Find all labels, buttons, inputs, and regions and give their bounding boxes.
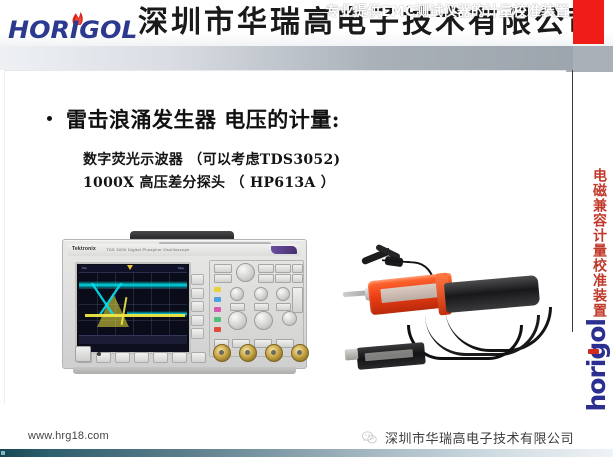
wechat-icon: [362, 431, 377, 444]
scope-softkey[interactable]: [191, 328, 204, 339]
scope-brand-label: Tektronix: [72, 246, 96, 252]
footer-gradient-bar: [0, 449, 613, 457]
scope-display-button[interactable]: [292, 287, 303, 313]
footer-bar-accent-tick: [1, 451, 5, 455]
footer-company-name: 深圳市华瑞高电子技术有限公司: [385, 428, 574, 447]
scope-vertical-scale-knob[interactable]: [230, 287, 244, 301]
probe-bnc-adapter-box: [356, 342, 426, 370]
scope-bottom-key[interactable]: [134, 352, 149, 363]
scope-bottom-key[interactable]: [172, 352, 187, 363]
probe-adapter-label: [365, 349, 414, 361]
scope-softkey[interactable]: [191, 288, 204, 299]
scope-screen-left-label: Tek: [82, 266, 87, 270]
brand-logo[interactable]: HORIGOL: [8, 10, 136, 44]
scope-control-button[interactable]: [254, 303, 269, 311]
scope-control-button[interactable]: [275, 264, 291, 273]
scope-bnc-ch3[interactable]: [265, 344, 283, 362]
scope-channel1-indicator: [214, 287, 221, 292]
scope-control-button[interactable]: [258, 274, 274, 283]
probe-spec-label: [380, 283, 443, 303]
scope-display-statusbar: [79, 345, 187, 352]
scope-trigger-marker-icon: [127, 265, 133, 270]
scope-power-button[interactable]: [75, 346, 91, 362]
scope-control-button[interactable]: [214, 274, 232, 283]
scope-horizontal-position-knob[interactable]: [254, 311, 273, 330]
scope-control-button[interactable]: [276, 303, 291, 311]
scope-control-button[interactable]: [214, 264, 232, 273]
scope-display-topbar: Tek Stop: [79, 265, 187, 273]
scope-control-button[interactable]: [258, 264, 274, 273]
scope-softkey[interactable]: [191, 315, 204, 326]
scope-channel2-indicator: [214, 297, 221, 302]
right-band-top-rule: [566, 70, 613, 72]
scope-channel3-indicator: [214, 307, 221, 312]
scope-vertical-position-knob[interactable]: [228, 311, 247, 330]
bullet-heading: 雷击浪涌发生器 电压的计量:: [47, 107, 340, 133]
scope-control-button[interactable]: [230, 303, 245, 311]
content-panel: 雷击浪涌发生器 电压的计量: 数字荧光示波器 （可以考虑TDS3052) 100…: [4, 70, 567, 404]
brand-logo-text: HORIGOL: [8, 18, 137, 42]
scope-trigger-level-knob[interactable]: [276, 287, 290, 301]
scope-screen-right-label: Stop: [178, 266, 184, 270]
scope-trace-yellow-baseline: [85, 314, 185, 317]
spec-line-oscilloscope: 数字荧光示波器 （可以考虑TDS3052): [83, 151, 340, 169]
scope-brand-strip: Tektronix TDS 3000 Digital Phosphor Osci…: [68, 244, 300, 256]
bullet-dot-icon: [47, 116, 52, 121]
scope-control-button[interactable]: [292, 264, 303, 273]
scope-softkey[interactable]: [191, 274, 204, 285]
scope-horizontal-scale-knob[interactable]: [254, 287, 268, 301]
scope-trigger-knob[interactable]: [282, 311, 297, 326]
page-footer: www.hrg18.com 深圳市华瑞高电子技术有限公司: [0, 412, 613, 460]
spec-line-probe: 1000X 高压差分探头 （ HP613A ）: [83, 174, 335, 192]
right-band-logo-accent-dot: [588, 349, 599, 354]
subtitle-bar: [0, 46, 613, 70]
scope-model-label: TDS 3000 Digital Phosphor Oscilloscope: [106, 247, 190, 252]
scope-multipurpose-knob[interactable]: [236, 263, 255, 282]
right-band-vertical-title: 电磁兼容计量校准装置: [589, 168, 609, 318]
subtitle-bar-right-cap: [573, 46, 613, 70]
scope-bnc-ch2[interactable]: [239, 344, 257, 362]
scope-bnc-connectors: [213, 344, 309, 362]
footer-website-url[interactable]: www.hrg18.com: [28, 430, 109, 442]
right-band-divider: [572, 70, 573, 332]
scope-softkey[interactable]: [191, 301, 204, 312]
scope-channel4-indicator: [214, 317, 221, 322]
scope-display-measurebar: [79, 335, 187, 344]
scope-control-button[interactable]: [275, 274, 291, 283]
scope-waveform-display: [79, 273, 187, 335]
scope-bottom-key[interactable]: [115, 352, 130, 363]
bullet-heading-text: 雷击浪涌发生器 电压的计量:: [66, 107, 340, 133]
tektronix-logo-icon: [271, 246, 297, 254]
header-red-accent: [573, 0, 604, 44]
scope-bottom-key[interactable]: [153, 352, 168, 363]
scope-control-panel: [209, 260, 304, 357]
right-band-vertical-logo: horigol: [582, 319, 611, 412]
scope-bottom-key[interactable]: [191, 352, 206, 363]
scope-display-bezel: Tek Stop: [75, 262, 191, 354]
probe-adapter-connector-pin: [345, 348, 359, 360]
scope-bnc-ch1[interactable]: [213, 344, 231, 362]
scope-bnc-ch4[interactable]: [291, 344, 309, 362]
subtitle-text: 专业提供EMC测试仪器的计量校准装置: [325, 2, 569, 22]
scope-math-indicator: [214, 327, 221, 332]
scope-chassis: Tektronix TDS 3000 Digital Phosphor Osci…: [62, 239, 307, 369]
hv-probe-image: [333, 249, 567, 381]
scope-base-foot: [73, 367, 296, 374]
oscilloscope-image: Tektronix TDS 3000 Digital Phosphor Osci…: [62, 231, 305, 376]
scope-side-softkeys[interactable]: [191, 274, 203, 338]
scope-control-button[interactable]: [292, 274, 303, 283]
scope-led-indicator: [97, 352, 101, 356]
slide-root: HORIGOL 深圳市华瑞高电子技术有限公司 专业提供EMC测试仪器的计量校准装…: [0, 0, 613, 460]
